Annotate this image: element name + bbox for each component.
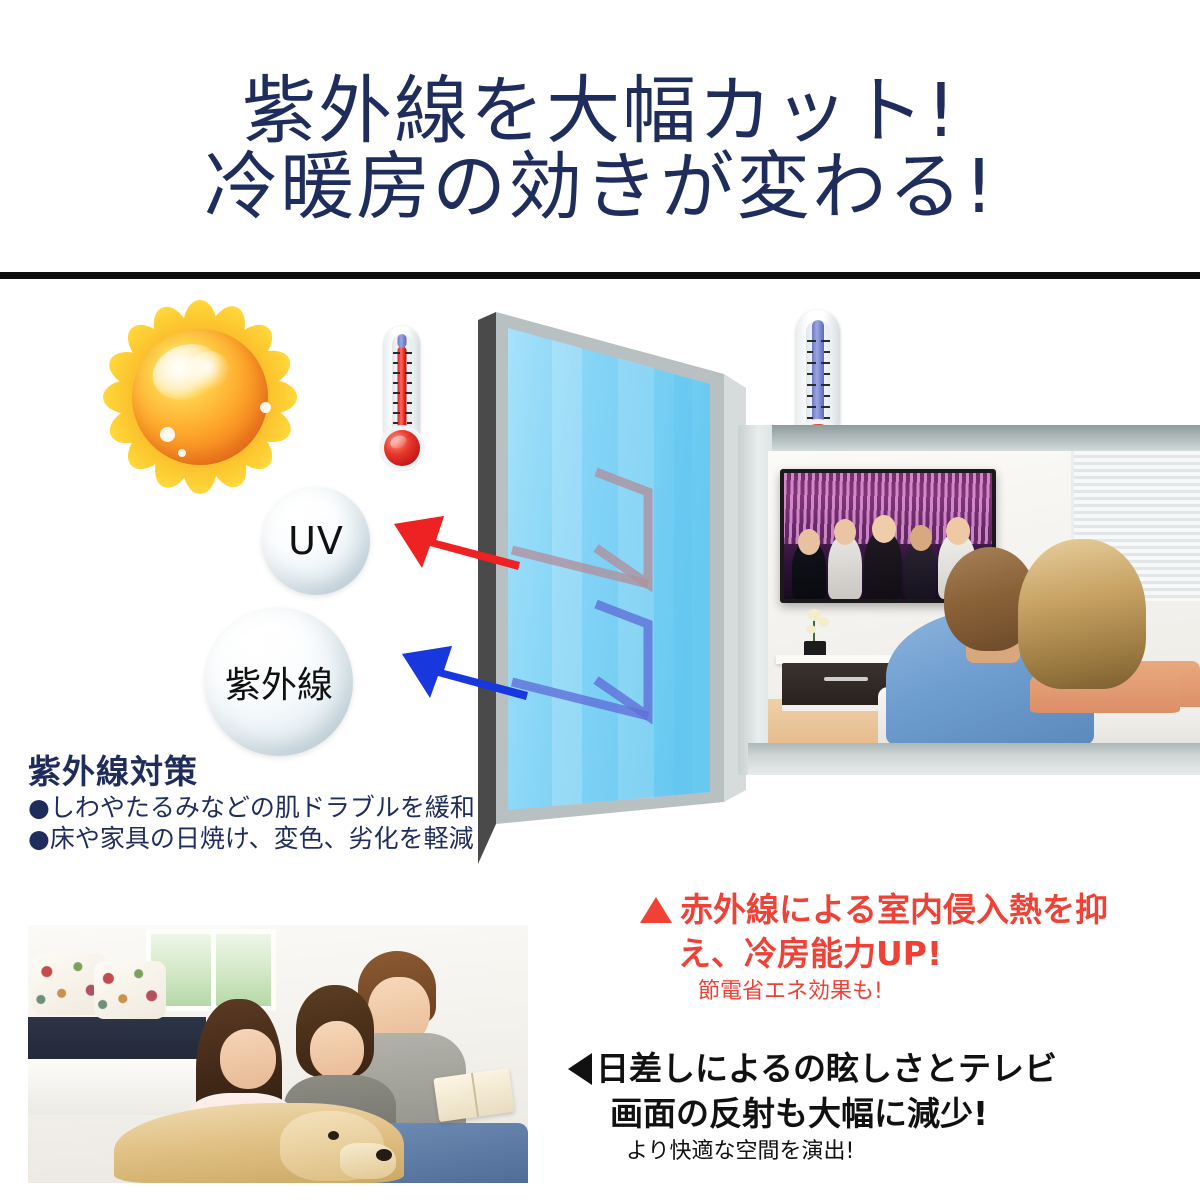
boy-face xyxy=(310,1021,364,1079)
window-bench-cushion xyxy=(28,1017,206,1065)
red-reflect-arrow xyxy=(392,500,522,570)
infrared-callout-line-2: え、冷房能力UP! xyxy=(640,932,1180,976)
uv-bullet-1: ●しわやたるみなどの肌ドラブルを緩和 xyxy=(28,792,508,823)
infrared-callout-text-1: 赤外線による室内侵入熱を抑 xyxy=(680,890,1108,929)
glare-callout-sub: より快適な空間を演出! xyxy=(568,1136,1188,1168)
tv-person-head xyxy=(910,525,932,551)
orchid-flower xyxy=(818,617,829,627)
infrared-callout-sub: 節電省エネ効果も! xyxy=(640,976,1180,1008)
glare-callout-text-1: 日差しによるの眩しさとテレビ xyxy=(596,1049,1057,1088)
pillow xyxy=(94,961,166,1019)
triangle-up-icon xyxy=(640,897,672,923)
blue-reflect-arrow xyxy=(400,630,530,700)
room-left-wall xyxy=(738,425,772,775)
infrared-callout-line-1: 赤外線による室内侵入熱を抑 xyxy=(640,888,1180,932)
headline-line-1: 紫外線を大幅カット! xyxy=(0,72,1200,150)
headline-line-2: 冷暖房の効きが変わる! xyxy=(0,148,1200,226)
book-spine xyxy=(471,1073,479,1117)
glare-callout-line-2: 画面の反射も大幅に減少! xyxy=(568,1091,1188,1136)
tv-person-head xyxy=(872,515,896,543)
uv-bubble-label: UV xyxy=(288,519,344,563)
uv-countermeasure-heading: 紫外線対策 xyxy=(28,752,508,792)
girl-face xyxy=(220,1029,276,1089)
sun-icon xyxy=(100,307,300,487)
couple-watching-tv-photo xyxy=(738,425,1200,775)
window-mullion xyxy=(211,934,216,1006)
golden-retriever-snout xyxy=(340,1143,396,1179)
room-floor-strip xyxy=(748,743,1200,775)
uv-japanese-bubble-label: 紫外線 xyxy=(225,656,333,708)
tv-person-head xyxy=(946,517,970,545)
uv-japanese-bubble: 紫外線 xyxy=(205,608,353,756)
glare-callout-line-1: 日差しによるの眩しさとテレビ xyxy=(568,1046,1188,1091)
uv-bullet-2: ●床や家具の日焼け、変色、劣化を軽減 xyxy=(28,823,508,854)
glare-callout: 日差しによるの眩しさとテレビ 画面の反射も大幅に減少! より快適な空間を演出! xyxy=(568,1046,1188,1168)
header-section: 紫外線を大幅カット! 冷暖房の効きが変わる! xyxy=(0,0,1200,277)
triangle-left-icon xyxy=(568,1053,592,1085)
family-with-dog-photo xyxy=(28,925,528,1183)
window-bench-base xyxy=(28,1059,208,1115)
tv-person-head xyxy=(798,529,820,555)
tv-cabinet xyxy=(782,663,892,711)
infrared-callout: 赤外線による室内侵入熱を抑 え、冷房能力UP! 節電省エネ効果も! xyxy=(640,888,1180,1008)
infographic-canvas: 紫外線を大幅カット! 冷暖房の効きが変わる! xyxy=(0,0,1200,1200)
header-divider xyxy=(0,272,1200,279)
golden-retriever-nose xyxy=(376,1149,392,1161)
uv-countermeasure-block: 紫外線対策 ●しわやたるみなどの肌ドラブルを緩和 ●床や家具の日焼け、変色、劣化… xyxy=(28,752,508,854)
tv-person-head xyxy=(834,519,856,545)
pillow-pattern xyxy=(94,961,166,1019)
uv-bubble: UV xyxy=(262,487,370,595)
room-interior xyxy=(768,451,1200,747)
golden-retriever-eye xyxy=(328,1131,339,1140)
cabinet-handle xyxy=(824,677,868,681)
orchid-flower xyxy=(806,625,816,634)
thermometer-icon-outdoor xyxy=(378,326,426,481)
window-glass-panel xyxy=(478,312,748,872)
woman-hair xyxy=(1018,539,1146,689)
